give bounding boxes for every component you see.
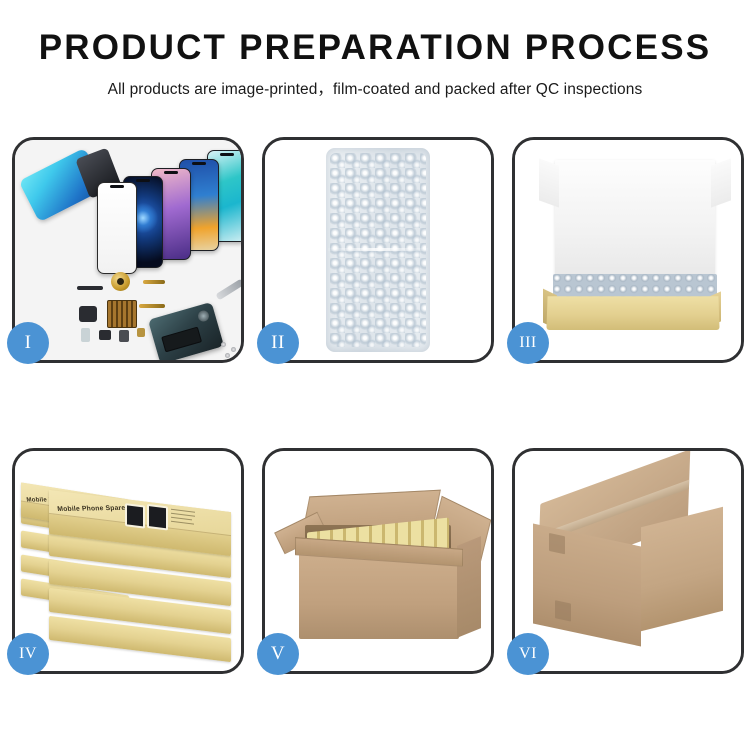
step-badge-3: III [507,322,549,364]
screen-assembly-icon [19,148,106,223]
stacked-boxes-photo: Mobile Phone Spare Parts [15,451,241,671]
step-badge-6: VI [507,633,549,675]
step-badge-2: II [257,322,299,364]
phone-white-glass [97,182,137,274]
tape-tab-upper [549,533,565,554]
coil-part-icon [111,272,130,291]
step-badge-1: I [7,322,49,364]
battery-part [161,327,202,353]
step-panel-products[interactable]: I [12,137,244,363]
phone-fan-group [97,150,241,282]
product-preparation-infographic: PRODUCT PREPARATION PROCESS All products… [0,0,750,750]
box-front-panel [546,296,719,330]
step-panel-inner-box[interactable]: III [512,137,744,363]
page-subtitle: All products are image-printed，film-coat… [0,77,750,99]
screwdriver-icon [215,279,241,301]
open-shipping-carton [281,473,481,655]
step-badge-4: IV [7,633,49,675]
page-title: PRODUCT PREPARATION PROCESS [0,30,750,67]
vibrator-part [119,330,129,342]
kraft-box-stack: Mobile Phone Spare Parts [21,463,241,663]
kraft-mailer-box [533,156,729,346]
screws-group [221,342,241,358]
antenna-strip-part [77,286,103,290]
sim-tray-part [81,328,90,342]
step-panel-carton-filling[interactable]: V [262,448,494,674]
inner-box-photo [515,140,741,360]
step-numeral: V [271,643,285,665]
bag-seam [328,248,428,251]
step-badge-5: V [257,633,299,675]
tape-tab-lower [555,600,571,621]
step-panel-bubble-wrap[interactable]: II [262,137,494,363]
step-panel-stacked-boxes[interactable]: Mobile Phone Spare Parts [12,448,244,674]
step-numeral: IV [19,645,37,663]
box-lid [555,160,715,280]
bubble-wrap-sleeve [326,148,430,352]
disassembled-phone-back [148,302,224,360]
step-panel-sealed-carton[interactable]: VI [512,448,744,674]
step-numeral: III [519,334,536,352]
camera-module-part [79,306,97,322]
flex-cable-part-b [139,304,165,308]
chip-array-icon [107,300,137,328]
sealed-shipping-carton [533,475,731,655]
steps-grid: I II [12,137,738,674]
step-numeral: II [271,332,285,354]
spare-parts-group [77,270,241,360]
flex-cable-part-a [143,280,165,284]
speaker-part [99,330,111,340]
step-numeral: VI [519,645,537,663]
rear-camera-part [197,309,211,323]
bubble-wrap-photo [265,140,491,360]
products-photo [15,140,241,360]
step-numeral: I [25,332,32,354]
carton-filling-photo [265,451,491,671]
sealed-carton-photo [515,451,741,671]
front-box-column: Mobile Phone Spare Parts [49,479,235,665]
connector-part [137,328,145,337]
carton-side-face [641,507,723,631]
header: PRODUCT PREPARATION PROCESS All products… [0,0,750,99]
